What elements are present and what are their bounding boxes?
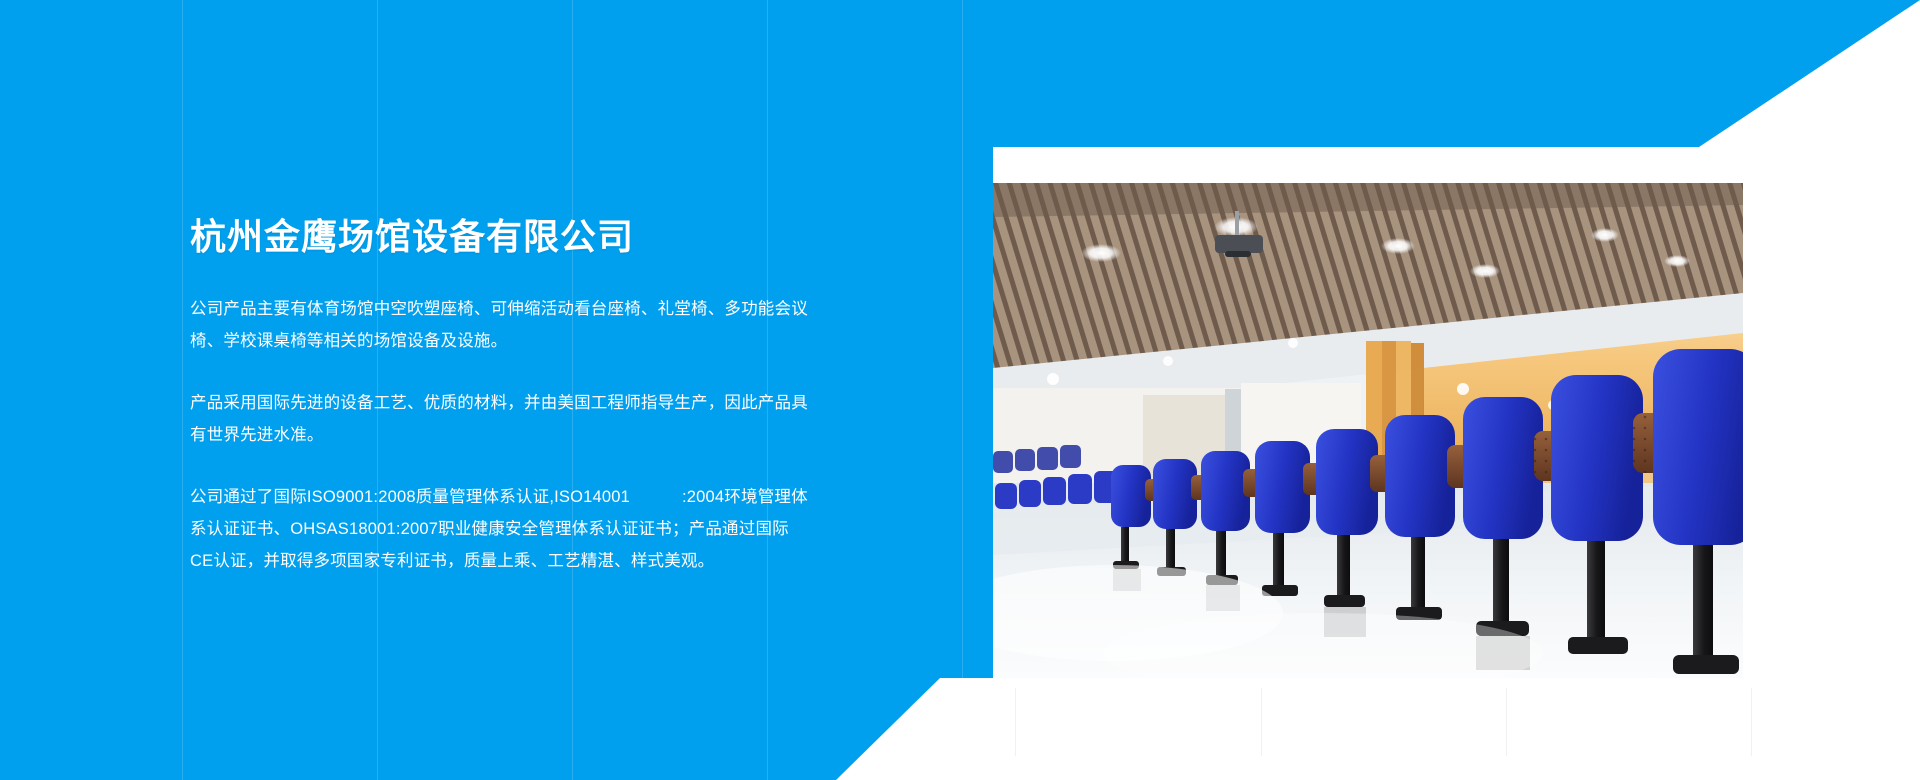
banner-copy: 杭州金鹰场馆设备有限公司 公司产品主要有体育场馆中空吹塑座椅、可伸缩活动看台座椅… [190, 214, 810, 577]
paragraph-quality: 产品采用国际先进的设备工艺、优质的材料，并由美国工程师指导生产，因此产品具有世界… [190, 387, 810, 451]
banner-stage: 杭州金鹰场馆设备有限公司 公司产品主要有体育场馆中空吹塑座椅、可伸缩活动看台座椅… [0, 0, 1920, 780]
paragraph-products: 公司产品主要有体育场馆中空吹塑座椅、可伸缩活动看台座椅、礼堂椅、多功能会议椅、学… [190, 293, 810, 357]
white-grid-line [1506, 688, 1507, 756]
white-grid-line [1015, 688, 1016, 756]
auditorium-seating-photo [993, 183, 1743, 678]
certification-lead: 公司通过了国际ISO9001:2008质量管理体系认证,ISO14001 [190, 488, 630, 506]
page-title: 杭州金鹰场馆设备有限公司 [190, 214, 810, 259]
white-grid-line [1261, 688, 1262, 756]
white-grid-line [1751, 688, 1752, 756]
photo-artwork [993, 183, 1743, 678]
paragraph-certifications: 公司通过了国际ISO9001:2008质量管理体系认证,ISO14001:200… [190, 481, 810, 577]
